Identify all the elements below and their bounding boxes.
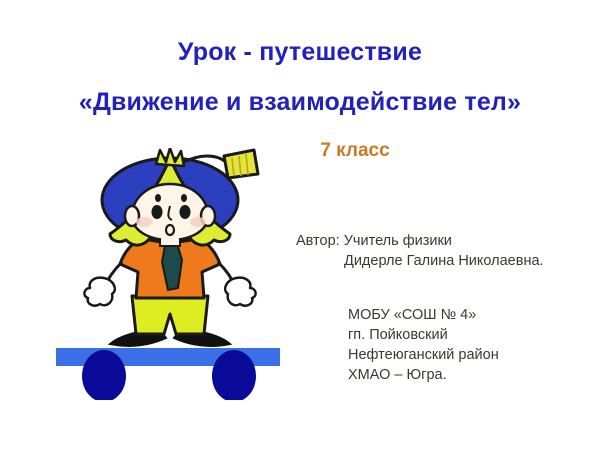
face	[132, 184, 208, 240]
cart-wheel-right	[212, 350, 256, 400]
slide-title-line-1: Урок - путешествие	[0, 38, 600, 67]
boy-on-cart-svg	[48, 148, 288, 400]
presentation-slide: Урок - путешествие «Движение и взаимодей…	[0, 0, 600, 450]
eyebrow-right	[181, 194, 187, 202]
hand-right	[225, 278, 255, 306]
eye-right	[180, 205, 191, 219]
cart-wheel-left	[82, 350, 126, 400]
hair-tuft	[156, 148, 184, 166]
cheek-right	[190, 217, 206, 227]
school-line-1: МОБУ «СОШ № 4»	[348, 305, 499, 325]
neck	[160, 238, 180, 246]
author-block: Автор: Учитель физики Дидерле Галина Ник…	[296, 231, 544, 271]
boy-on-cart-illustration	[48, 148, 288, 400]
author-line-1: Автор: Учитель физики	[296, 233, 452, 249]
eye-left	[152, 205, 163, 219]
school-block: МОБУ «СОШ № 4» гп. Пойковский Нефтеюганс…	[348, 305, 499, 385]
cheek-left	[136, 217, 152, 227]
slide-title-line-2: «Движение и взаимодействие тел»	[0, 88, 600, 117]
author-line-2: Дидерле Галина Николаевна.	[296, 251, 544, 271]
school-line-4: ХМАО – Югра.	[348, 365, 499, 385]
shorts	[132, 296, 208, 334]
school-line-3: Нефтеюганский район	[348, 345, 499, 365]
eyebrow-left	[155, 194, 161, 202]
hand-left	[84, 278, 114, 306]
school-line-2: гп. Пойковский	[348, 325, 499, 345]
